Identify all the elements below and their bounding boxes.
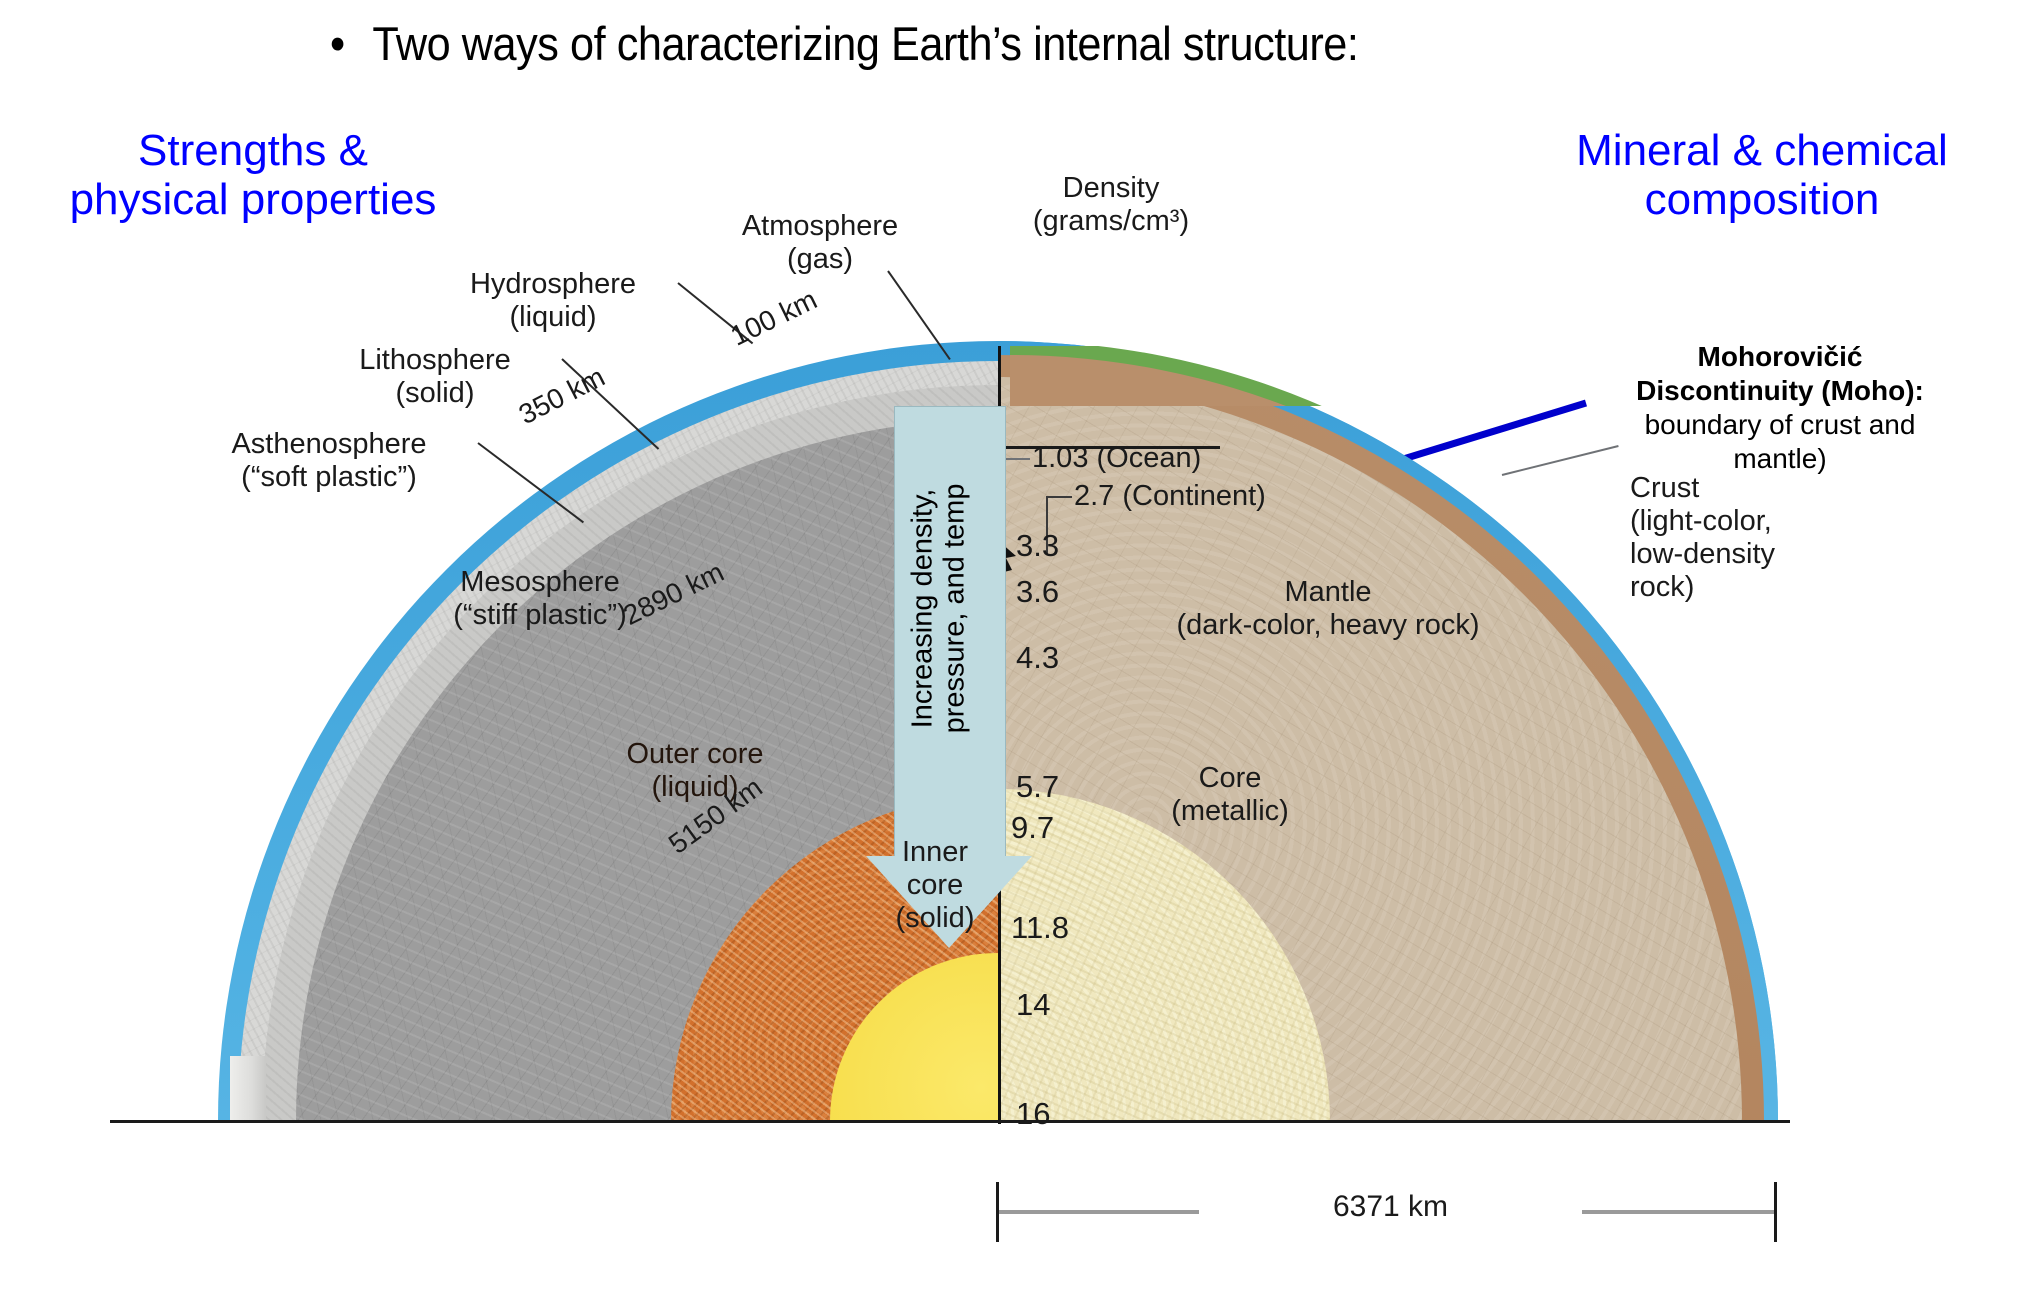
label-inner-core-line2: core bbox=[870, 869, 1000, 902]
arrow-label-line2: pressure, and temp bbox=[939, 373, 971, 843]
label-inner-core: Inner core (solid) bbox=[870, 836, 1000, 935]
arrow-label: Increasing density, pressure, and temp bbox=[907, 373, 972, 843]
scale-bar-line-right bbox=[1582, 1210, 1774, 1214]
scale-bar-right-cap bbox=[1774, 1182, 1777, 1242]
scale-bar: 6371 km bbox=[110, 1182, 1790, 1242]
label-hydrosphere-line1: Hydrosphere bbox=[428, 268, 678, 301]
arrow-label-line1: Increasing density, bbox=[907, 373, 939, 843]
label-inner-core-line1: Inner bbox=[870, 836, 1000, 869]
bullet-marker: • bbox=[330, 16, 372, 71]
label-atmosphere-line2: (gas) bbox=[700, 243, 940, 276]
heading-strengths-line1: Strengths & bbox=[18, 126, 488, 175]
continent-tick-arm bbox=[1046, 496, 1072, 498]
label-hydrosphere-line2: (liquid) bbox=[428, 301, 678, 334]
label-mantle: Mantle (dark-color, heavy rock) bbox=[1118, 576, 1538, 642]
label-crust-line3: low-density bbox=[1630, 538, 1860, 571]
label-atmosphere: Atmosphere (gas) bbox=[700, 210, 940, 276]
density-title-line1: Density bbox=[996, 172, 1226, 205]
label-mantle-line1: Mantle bbox=[1118, 576, 1538, 609]
lithosphere-edge bbox=[230, 1056, 266, 1121]
label-crust: Crust (light-color, low-density rock) bbox=[1630, 472, 1860, 604]
heading-composition-line1: Mineral & chemical bbox=[1522, 126, 2002, 175]
density-title: Density (grams/cm³) bbox=[996, 172, 1226, 238]
label-core-line1: Core bbox=[1110, 762, 1350, 795]
label-atmosphere-line1: Atmosphere bbox=[700, 210, 940, 243]
density-continent-label: 2.7 (Continent) bbox=[1074, 480, 1266, 513]
label-asthenosphere: Asthenosphere (“soft plastic”) bbox=[184, 428, 474, 494]
slide-canvas: •Two ways of characterizing Earth’s inte… bbox=[0, 0, 2024, 1306]
label-mantle-line2: (dark-color, heavy rock) bbox=[1118, 609, 1538, 642]
composition-half bbox=[998, 196, 1790, 1121]
earth-cross-section-figure: Density (grams/cm³) 1.03 (Ocean) 2.7 (Co… bbox=[110, 196, 1790, 1206]
label-outer-core-line2: (liquid) bbox=[560, 771, 830, 804]
equator-baseline bbox=[110, 1120, 1790, 1123]
density-value-5-7: 5.7 bbox=[1016, 769, 1059, 805]
label-crust-line4: rock) bbox=[1630, 571, 1860, 604]
label-outer-core-line1: Outer core bbox=[560, 738, 830, 771]
label-asthenosphere-line2: (“soft plastic”) bbox=[184, 461, 474, 494]
label-core-line2: (metallic) bbox=[1110, 795, 1350, 828]
label-outer-core: Outer core (liquid) bbox=[560, 738, 830, 804]
density-value-3-6: 3.6 bbox=[1016, 574, 1059, 610]
scale-bar-line-left bbox=[999, 1210, 1199, 1214]
label-core: Core (metallic) bbox=[1110, 762, 1350, 828]
bullet-line: •Two ways of characterizing Earth’s inte… bbox=[330, 16, 1618, 71]
label-crust-line1: Crust bbox=[1630, 472, 1860, 505]
density-value-9-7: 9.7 bbox=[1011, 810, 1054, 846]
continent-sliver bbox=[1010, 346, 1430, 406]
label-hydrosphere: Hydrosphere (liquid) bbox=[428, 268, 678, 334]
density-value-16: 16 bbox=[1016, 1096, 1050, 1132]
density-value-4-3: 4.3 bbox=[1016, 640, 1059, 676]
bullet-text: Two ways of characterizing Earth’s inter… bbox=[372, 17, 1358, 70]
scale-bar-label: 6371 km bbox=[1199, 1190, 1582, 1224]
density-title-line2: (grams/cm³) bbox=[996, 205, 1226, 238]
label-asthenosphere-line1: Asthenosphere bbox=[184, 428, 474, 461]
density-value-14: 14 bbox=[1016, 987, 1050, 1023]
label-lithosphere-line1: Lithosphere bbox=[310, 344, 560, 377]
density-ocean-label: 1.03 (Ocean) bbox=[1032, 442, 1201, 475]
label-inner-core-line3: (solid) bbox=[870, 902, 1000, 935]
label-crust-line2: (light-color, bbox=[1630, 505, 1860, 538]
